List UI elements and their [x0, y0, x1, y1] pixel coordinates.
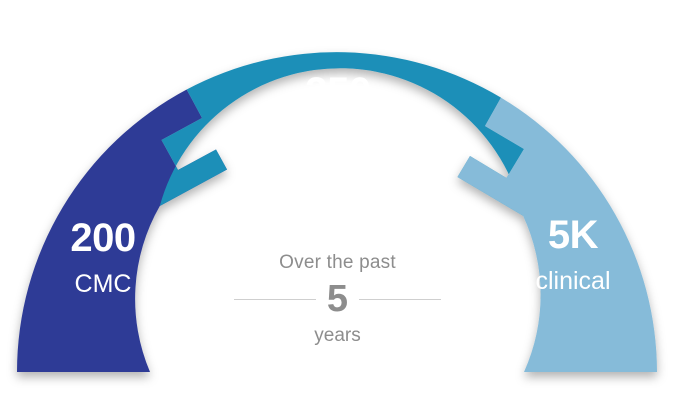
segment-value-nonclinical: 350: [218, 72, 458, 112]
segment-name-clinical: clinical: [493, 269, 653, 294]
segment-label-clinical: 5K clinical: [493, 215, 653, 294]
segment-name-cmc: CMC: [23, 272, 183, 297]
segment-label-nonclinical: 350 nonclinical: [218, 72, 458, 151]
center-caption: Over the past 5 years: [200, 252, 475, 347]
caption-number-row: 5: [200, 280, 475, 318]
caption-rule-left: [234, 299, 316, 300]
gauge-infographic: 200 CMC 350 nonclinical 5K clinical Over…: [0, 0, 675, 420]
segment-name-nonclinical: nonclinical: [218, 126, 458, 151]
caption-number: 5: [316, 280, 359, 318]
segment-value-clinical: 5K: [493, 215, 653, 255]
segment-value-cmc: 200: [23, 218, 183, 258]
segment-label-cmc: 200 CMC: [23, 218, 183, 297]
caption-bottom-text: years: [200, 325, 475, 347]
caption-rule-right: [359, 299, 441, 300]
gauge-chart: [0, 0, 675, 420]
caption-top-text: Over the past: [200, 252, 475, 274]
